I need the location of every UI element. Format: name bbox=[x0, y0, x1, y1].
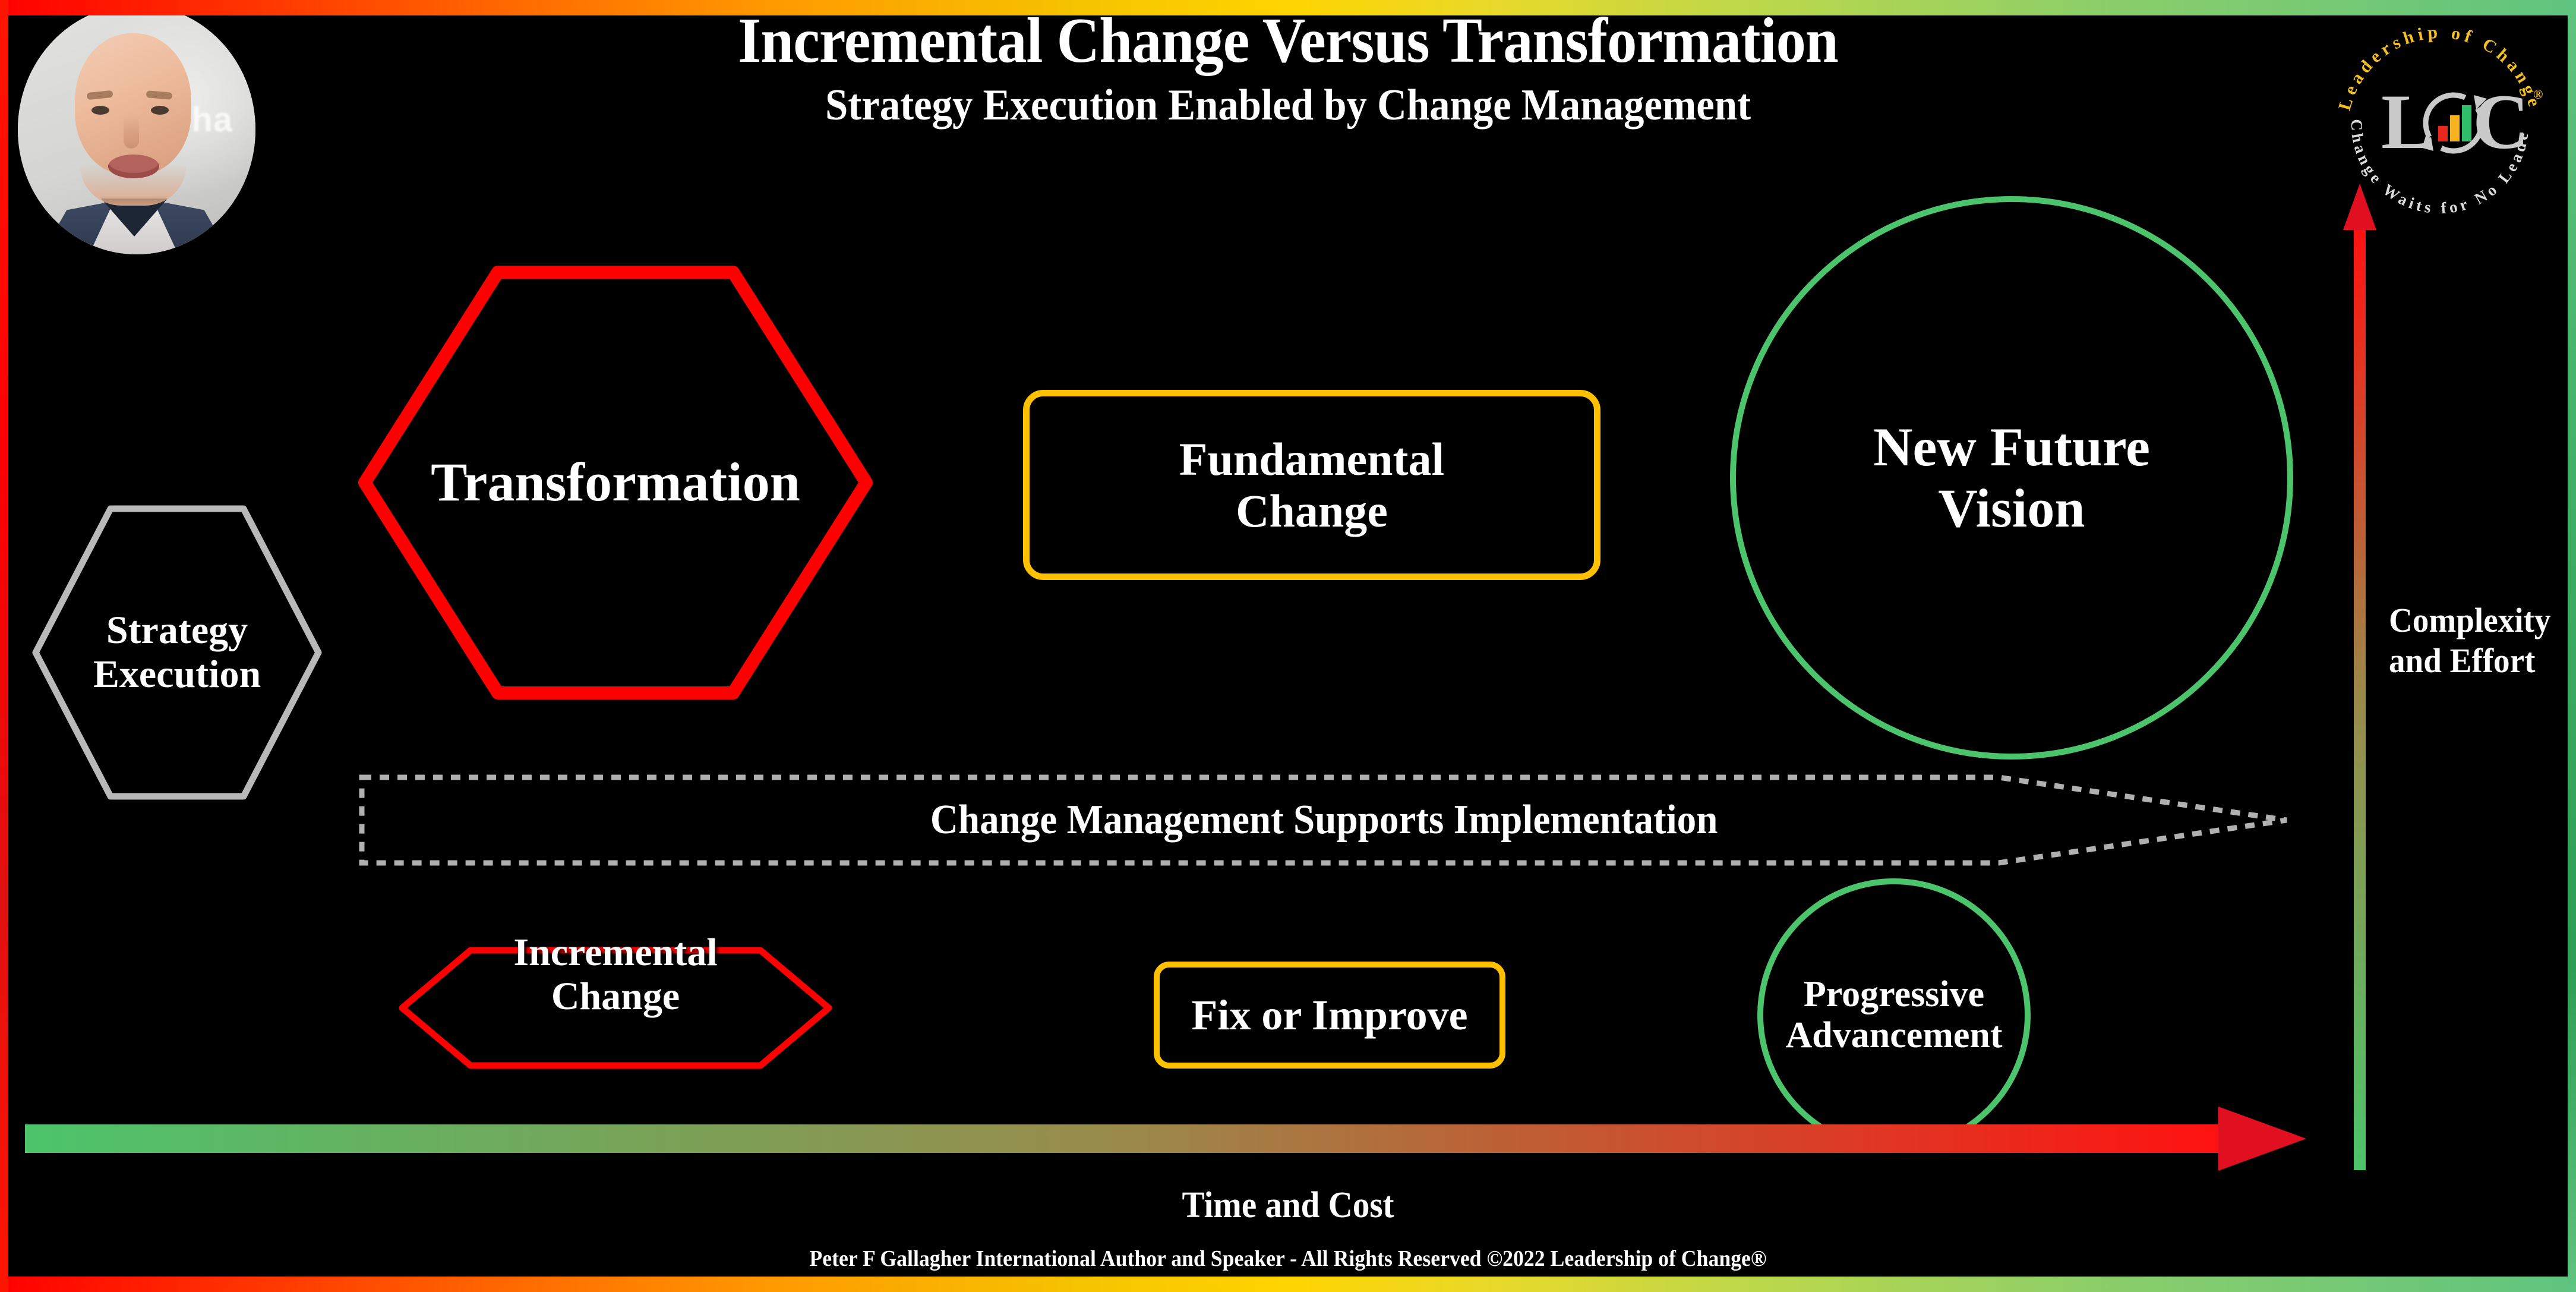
shape-incremental-change[interactable]: Incremental Change bbox=[397, 945, 834, 1071]
axis-label-time-and-cost: Time and Cost bbox=[103, 1184, 2473, 1227]
axis-horizontal-arrow bbox=[25, 1103, 2306, 1174]
shape-fundamental-change[interactable]: Fundamental Change bbox=[1023, 390, 1600, 580]
page-title: Incremental Change Versus Transformation bbox=[90, 8, 2486, 74]
axis-label-complexity-and-effort: Complexity and Effort bbox=[2389, 600, 2550, 682]
axis-vertical-arrow bbox=[2343, 184, 2376, 1170]
shape-label-new-future-vision: New Future Vision bbox=[1873, 417, 2150, 539]
left-border bbox=[0, 0, 8, 1292]
shape-fix-or-improve[interactable]: Fix or Improve bbox=[1154, 962, 1505, 1069]
footer-copyright: Peter F Gallagher International Author a… bbox=[77, 1246, 2499, 1272]
shape-label-fundamental-change: Fundamental Change bbox=[1179, 433, 1444, 537]
shape-label-change-management: Change Management Supports Implementatio… bbox=[930, 797, 1718, 843]
top-gradient-border bbox=[0, 0, 2576, 15]
shape-label-transformation: Transformation bbox=[431, 452, 800, 513]
avatar-head bbox=[75, 33, 191, 175]
shape-change-management-banner[interactable]: Change Management Supports Implementatio… bbox=[359, 773, 2290, 868]
page-subtitle: Strategy Execution Enabled by Change Man… bbox=[90, 83, 2486, 128]
shape-strategy-execution[interactable]: Strategy Execution bbox=[26, 499, 328, 806]
avatar-eye-left bbox=[91, 106, 109, 115]
avatar-mouth bbox=[108, 155, 159, 178]
right-border bbox=[2568, 0, 2576, 1292]
avatar: n Cha bbox=[18, 5, 255, 254]
shape-transformation[interactable]: Transformation bbox=[354, 261, 877, 704]
shape-label-incremental-change: Incremental Change bbox=[397, 931, 834, 1019]
shape-label-strategy-execution: Strategy Execution bbox=[93, 609, 261, 697]
leadership-of-change-logo: Leadership of Change Change Waits for No… bbox=[2324, 8, 2556, 240]
slide-canvas: n Cha Incremental Change Versus Transfor… bbox=[0, 0, 2576, 1292]
avatar-nose bbox=[124, 115, 139, 149]
bottom-gradient-border bbox=[0, 1277, 2576, 1292]
shape-new-future-vision[interactable]: New Future Vision bbox=[1730, 196, 2293, 760]
shape-label-fix-or-improve: Fix or Improve bbox=[1191, 991, 1467, 1039]
shape-label-progressive-advancement: Progressive Advancement bbox=[1763, 974, 2025, 1057]
avatar-eye-right bbox=[151, 106, 169, 115]
svg-text:®: ® bbox=[2533, 87, 2543, 102]
